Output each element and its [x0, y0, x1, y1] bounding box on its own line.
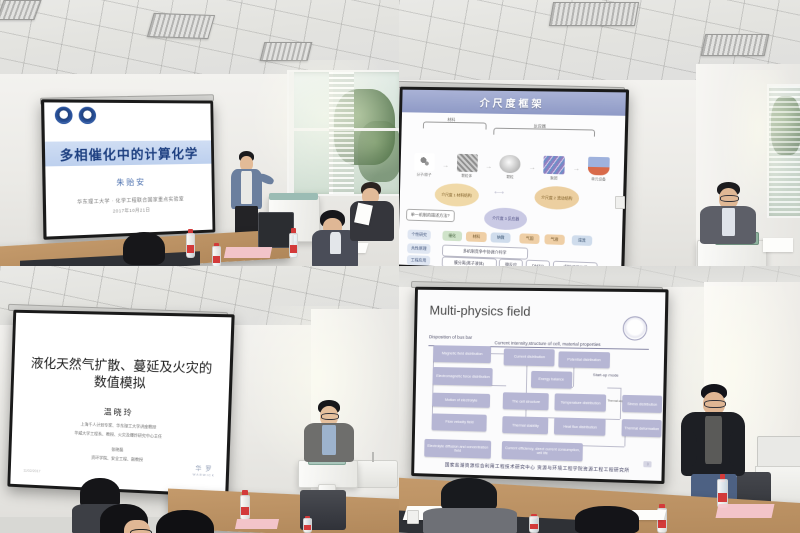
- slide-footer: 国家盐湖资源综合利用工程技术研究中心 资源与环境工程学院资源工程工程研究所: [414, 462, 661, 476]
- glasses-icon: [130, 529, 152, 533]
- chain-node: 颗粒体: [452, 153, 483, 180]
- particle-bed-image: [457, 154, 478, 172]
- chain-caption: 颗粒: [506, 175, 513, 180]
- brace-label-reactor: 反应器: [534, 123, 546, 129]
- shirt: [330, 232, 341, 254]
- pill-material: 材料: [466, 232, 486, 242]
- slide-watermark: 华 罗 WARWICK: [193, 464, 216, 478]
- slide-page-label: 11/02/2017: [23, 468, 40, 473]
- shirt-inner: [705, 416, 722, 464]
- pink-notepad: [224, 247, 272, 258]
- slide-header-title: 介尺度框架: [480, 95, 545, 111]
- chain-caption: 分子/原子: [417, 172, 432, 177]
- arm-left: [681, 432, 697, 466]
- arrow-icon: →: [485, 163, 492, 170]
- box-heat-flux: Heat flux distribution: [554, 418, 606, 436]
- box-flow-velocity: Flow velocity field: [432, 413, 487, 432]
- person-attendee-2: [569, 506, 649, 533]
- pill-catalysis: 催化: [442, 231, 462, 241]
- hair: [156, 510, 214, 533]
- slide-affiliation: 华东理工大学 · 化学工程联合国家重点实验室: [46, 194, 212, 206]
- projector-screen: Multi-physics field Disposition of bus b…: [411, 287, 668, 484]
- box-temperature-distribution: Temperature distribution: [555, 394, 607, 412]
- arm-right: [729, 432, 745, 466]
- slide-title-line1: 液化天然气扩散、蔓延及火灾的: [31, 355, 213, 375]
- box-current-distribution: Current distribution: [504, 348, 555, 366]
- glasses-icon: [704, 400, 726, 408]
- shirt: [722, 208, 735, 236]
- ceiling-vent: [549, 2, 639, 26]
- hair: [441, 478, 497, 512]
- hair: [123, 232, 165, 265]
- photo-bottom-left: 液化天然气扩散、蔓延及火灾的 数值模拟 温晓玲 上海千人计划专家、华东理工大学讲…: [0, 266, 399, 533]
- person-attendee-1: [423, 478, 519, 533]
- hair: [575, 506, 639, 533]
- ceiling-vent: [701, 34, 770, 56]
- podium-top-surface: [269, 193, 318, 200]
- slide-date: 2017年10月21日: [46, 206, 212, 218]
- brace-label-material: 材料: [447, 117, 455, 123]
- university-logo-icon: [55, 106, 73, 123]
- water-bottle: [212, 243, 221, 266]
- reactor-unit-image: [588, 157, 610, 175]
- box-cell-structure: The cell structure: [503, 393, 549, 411]
- box-motion-electrolyte: Motion of electrolyte: [432, 393, 490, 408]
- person-attendee-3: [152, 510, 228, 533]
- cluster-image: [543, 156, 565, 174]
- chain-caption: 聚团: [550, 176, 557, 181]
- chain-caption: 单元设备: [591, 177, 606, 182]
- box-potential-distribution: Potential distribution: [558, 351, 610, 369]
- box-energy-balance: Energy balance: [530, 371, 572, 389]
- slide-title: Multi-physics field: [429, 303, 530, 319]
- water-bottle: [529, 514, 539, 533]
- photo-top-right: 介尺度框架 材料 反应器 分子/原子 → 颗粒体: [399, 0, 800, 266]
- row-label-common: 共性原理: [407, 243, 430, 254]
- glasses-icon: [321, 413, 339, 420]
- chain-node: 聚团: [538, 155, 570, 182]
- photo-bottom-right: Multi-physics field Disposition of bus b…: [399, 266, 800, 533]
- ceiling-vent: [260, 42, 313, 61]
- pill-nano: 纳微: [491, 233, 511, 243]
- row-label-individual: 个性研究: [407, 230, 430, 241]
- person-presenter: [697, 182, 759, 244]
- ceiling-vent: [147, 13, 215, 39]
- pill-turbulence: 湍流: [571, 236, 592, 247]
- slide-multiphysics: Multi-physics field Disposition of bus b…: [414, 290, 665, 481]
- chain-node: 分子/原子: [409, 152, 440, 179]
- oval-mesoscale-1: 介尺度 1 材料结构: [434, 183, 478, 207]
- slide-speaker-name: 朱贻安: [46, 175, 212, 190]
- water-bottle: [186, 229, 195, 258]
- person-presenter: [302, 400, 356, 462]
- water-bottle: [717, 474, 728, 508]
- pill-membrane: 膜分离(离子液体): [441, 257, 496, 266]
- person-attendee-foreground: [118, 232, 172, 266]
- projector-screen: 介尺度框架 材料 反应器 分子/原子 → 颗粒体: [399, 87, 629, 266]
- printer: [757, 436, 800, 470]
- arrow-icon: →: [442, 162, 449, 169]
- slide-main-title: 液化天然气扩散、蔓延及火灾的 数值模拟: [26, 354, 217, 395]
- box-thermal-deformation: Thermal deformation: [622, 420, 662, 438]
- pill-gas-solid: 气固: [520, 234, 540, 245]
- ceiling-vent: [0, 0, 42, 20]
- slide-logos: [55, 106, 96, 123]
- box-thermal-stability: Thermal stability: [502, 417, 548, 435]
- slide-title-band: 多相催化中的计算化学: [45, 140, 212, 167]
- photo-collage: 多相催化中的计算化学 朱贻安 华东理工大学 · 化学工程联合国家重点实验室 20…: [0, 0, 800, 533]
- caption-startup-mode: Start-up mode: [593, 372, 619, 378]
- pill-gas-liquid: 气液: [544, 235, 565, 246]
- chain-node: 单元设备: [583, 156, 615, 183]
- pill-microreactor: 微反应: [499, 259, 524, 266]
- wall-socket: [615, 196, 625, 209]
- slide-title-chinese: 多相催化中的计算化学 朱贻安 华东理工大学 · 化学工程联合国家重点实验室 20…: [44, 102, 212, 236]
- double-arrow-icon: ⟷: [494, 188, 504, 196]
- box-electromagnetic-force: Electromagnetic force distribution: [433, 367, 493, 386]
- watermark-sub: WARWICK: [193, 473, 215, 478]
- chain-node: 颗粒: [495, 154, 526, 181]
- box-magnetic-field: Magnetic field distribution: [433, 345, 491, 363]
- question-box: 单一机制的描述方法?: [406, 209, 455, 222]
- caption-bus-bar: Disposition of bus bar: [429, 334, 472, 340]
- oval-mesoscale-2: 介尺度 2 流动结构: [534, 186, 580, 211]
- water-bottle: [303, 516, 312, 533]
- university-seal-icon: [622, 316, 647, 341]
- oval-mesoscale-3: 介尺度 3 反应器: [484, 208, 527, 231]
- pink-notepad: [235, 519, 279, 529]
- projector-screen: 多相催化中的计算化学 朱贻安 华东理工大学 · 化学工程联合国家重点实验室 20…: [41, 99, 215, 240]
- connector: [620, 388, 622, 420]
- pink-notepad: [716, 504, 775, 518]
- scale-chain: 分子/原子 → 颗粒体 → 颗粒 →: [409, 148, 615, 189]
- slide-main-title: 多相催化中的计算化学: [60, 143, 199, 164]
- projector-screen: 液化天然气扩散、蔓延及火灾的 数值模拟 温晓玲 上海千人计划专家、华东理工大学讲…: [7, 310, 234, 498]
- shirt: [322, 425, 336, 455]
- molecule-icon: [414, 153, 435, 171]
- arrow-icon: →: [529, 164, 536, 171]
- chain-caption: 颗粒体: [461, 173, 472, 178]
- faucet-icon: [372, 452, 374, 462]
- box-electrolyte-diffusion: Electrolyte diffusion and concentration …: [424, 439, 491, 459]
- glasses-icon: [720, 195, 739, 202]
- wall-socket: [407, 510, 419, 524]
- torso-suit: [423, 508, 517, 533]
- shirt: [241, 171, 252, 204]
- slide-header: 介尺度框架: [402, 90, 626, 116]
- paper-stack: [763, 238, 793, 252]
- slide-title-lng: 液化天然气扩散、蔓延及火灾的 数值模拟 温晓玲 上海千人计划专家、华东理工大学讲…: [10, 313, 231, 494]
- connector: [608, 387, 621, 388]
- row-label-application: 工程应用: [407, 255, 430, 266]
- particle-image: [500, 155, 521, 173]
- slide-page-number: 3: [644, 461, 652, 467]
- arrow-icon: →: [573, 166, 580, 173]
- slide-title-line2: 数值模拟: [94, 375, 146, 392]
- water-bottle: [240, 490, 250, 520]
- photo-top-left: 多相催化中的计算化学 朱贻安 华东理工大学 · 化学工程联合国家重点实验室 20…: [0, 0, 399, 266]
- box-current-efficiency: Current efficiency, direct current consu…: [502, 441, 583, 462]
- university-logo-icon: [79, 107, 97, 124]
- water-bottle: [289, 228, 298, 258]
- slide-mesoscale-framework: 介尺度框架 材料 反应器 分子/原子 → 颗粒体: [399, 90, 626, 266]
- box-stress-distribution: Stress distribution: [622, 395, 662, 413]
